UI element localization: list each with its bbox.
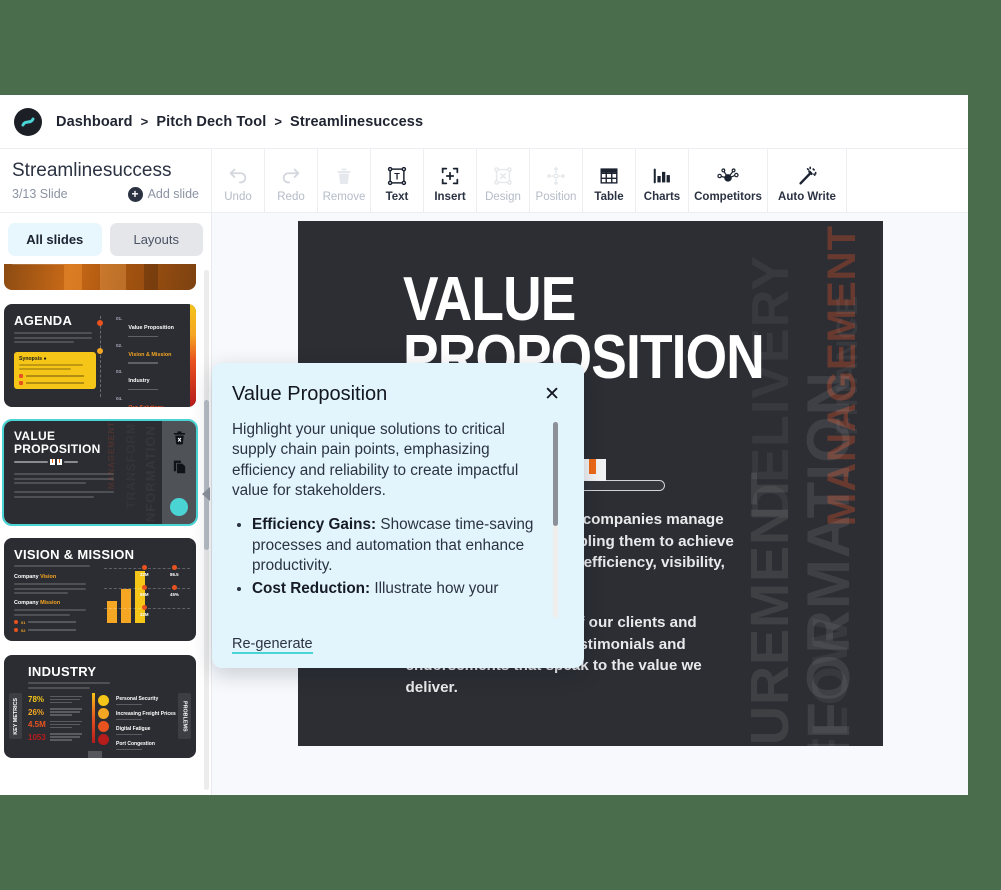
toolbar-row: Streamlinesuccess 3/13 Slide + Add slide… — [0, 149, 968, 213]
industry-metric: 4.5M — [28, 720, 46, 729]
text-box-icon: T — [386, 163, 408, 187]
svg-text:T: T — [394, 171, 400, 181]
tool-label: Redo — [277, 191, 305, 203]
vision-stat: 45% — [170, 592, 179, 597]
tool-text[interactable]: T Text — [371, 149, 424, 212]
insert-frame-icon — [439, 163, 461, 187]
trash-icon — [334, 163, 354, 187]
magic-wand-icon — [795, 163, 819, 187]
sidebar-collapse-button[interactable] — [199, 481, 212, 507]
undo-arrow-icon — [227, 163, 249, 187]
tab-layouts[interactable]: Layouts — [110, 223, 204, 256]
industry-side-label-right: PROBLEMS — [182, 701, 188, 732]
plus-circle-icon: + — [128, 187, 143, 202]
bar-chart-icon — [651, 163, 673, 187]
tool-competitors[interactable]: Competitors — [689, 149, 768, 212]
add-slide-label: Add slide — [148, 187, 199, 201]
slide-thumbnail-list[interactable]: AGENDA Synopsis ● — [0, 264, 211, 795]
tool-label: Position — [536, 191, 577, 203]
popup-header: Value Proposition ✕ — [232, 383, 564, 406]
agenda-item-label: Industry — [128, 378, 149, 384]
agenda-item-label: Value Proposition — [128, 325, 174, 331]
toolbar-spacer — [847, 149, 968, 212]
application-window: Dashboard > Pitch Dech Tool > Streamline… — [0, 95, 968, 795]
decor-word-flow: FLOW — [801, 617, 859, 746]
logo-icon — [14, 108, 42, 136]
document-info-block: Streamlinesuccess 3/13 Slide + Add slide — [0, 149, 212, 212]
bullet-term: Efficiency Gains: — [252, 516, 376, 533]
popup-bullet-1: Efficiency Gains: Showcase time-saving p… — [252, 515, 542, 576]
thumbnail-title: INDUSTRY — [28, 664, 196, 679]
tool-undo[interactable]: Undo — [212, 149, 265, 212]
tool-charts[interactable]: Charts — [636, 149, 689, 212]
slide-status-dot — [170, 498, 188, 516]
tool-label: Design — [485, 191, 521, 203]
tool-label: Text — [386, 191, 409, 203]
thumbnail-actions — [162, 421, 196, 524]
industry-side-label-left: KEY METRICS — [13, 698, 19, 735]
design-frame-icon — [492, 163, 514, 187]
industry-metric: 26% — [28, 708, 46, 717]
bullet-text: Illustrate how your — [370, 580, 498, 597]
page-title: Streamlinesuccess — [12, 161, 199, 182]
vision-stat: 22M — [140, 572, 149, 577]
popup-intro: Highlight your unique solutions to criti… — [232, 420, 542, 501]
value-proposition-popup[interactable]: Value Proposition ✕ Highlight your uniqu… — [212, 363, 584, 668]
slide-thumbnail-3[interactable]: INFORMATION TRANSFORM MANAGEMENT VALUEPR… — [4, 421, 196, 524]
decor-word-information: INFORMATION — [794, 371, 863, 746]
slides-sidebar: All slides Layouts — [0, 213, 212, 795]
tool-label: Table — [594, 191, 623, 203]
redo-arrow-icon — [280, 163, 302, 187]
vision-stat: 32M — [140, 612, 149, 617]
popup-scrollbar-thumb[interactable] — [553, 422, 558, 526]
industry-problem: Increasing Freight Prices — [116, 711, 176, 717]
slide-thumbnail-5[interactable]: KEY METRICS PROBLEMS INDUSTRY 78% 26% 4.… — [4, 655, 196, 758]
delete-slide-button[interactable] — [171, 429, 188, 448]
industry-problem: Personal Security — [116, 696, 176, 702]
app-logo[interactable] — [0, 108, 56, 136]
popup-bullet-list: Efficiency Gains: Showcase time-saving p… — [252, 515, 542, 599]
tool-label: Undo — [224, 191, 252, 203]
slide-thumbnail-4[interactable]: VISION & MISSION Company Vision Company … — [4, 538, 196, 641]
industry-metric: 78% — [28, 695, 46, 704]
popup-bullet-2: Cost Reduction: Illustrate how your — [252, 579, 542, 599]
sidebar-scrollbar[interactable] — [204, 270, 209, 790]
tab-all-slides[interactable]: All slides — [8, 223, 102, 256]
breadcrumb: Dashboard > Pitch Dech Tool > Streamline… — [56, 114, 423, 130]
tool-label: Charts — [644, 191, 680, 203]
top-bar: Dashboard > Pitch Dech Tool > Streamline… — [0, 95, 968, 149]
slide-counter: 3/13 Slide — [12, 187, 68, 201]
vision-stat: 55M — [140, 592, 149, 597]
tool-position[interactable]: Position — [530, 149, 583, 212]
tool-remove[interactable]: Remove — [318, 149, 371, 212]
popup-scrollbar[interactable] — [553, 422, 558, 618]
position-arrows-icon — [545, 163, 567, 187]
sidebar-tabs: All slides Layouts — [0, 213, 211, 264]
slide-thumbnail-2[interactable]: AGENDA Synopsis ● — [4, 304, 196, 407]
popup-body: Highlight your unique solutions to criti… — [232, 420, 564, 600]
decor-word-procurement: PROCUREMENT — [739, 471, 801, 746]
agenda-item-label: Vision & Mission — [128, 352, 171, 358]
breadcrumb-item-pitch-dech-tool[interactable]: Pitch Dech Tool — [156, 114, 266, 130]
tool-label: Competitors — [694, 191, 762, 203]
chevron-left-icon — [202, 487, 210, 501]
agenda-item-label: Our Solutions — [128, 405, 164, 407]
tools-group: Undo Redo Remove — [212, 149, 968, 212]
vision-stat: 86.5 — [170, 572, 179, 577]
tool-label: Auto Write — [778, 191, 836, 203]
tool-auto-write[interactable]: Auto Write — [768, 149, 847, 212]
network-nodes-icon — [715, 163, 741, 187]
add-slide-button[interactable]: + Add slide — [128, 187, 199, 202]
duplicate-slide-button[interactable] — [171, 458, 188, 477]
breadcrumb-item-dashboard[interactable]: Dashboard — [56, 114, 133, 130]
tool-table[interactable]: Table — [583, 149, 636, 212]
popup-title: Value Proposition — [232, 383, 387, 406]
popup-scroll-region[interactable]: Highlight your unique solutions to criti… — [232, 420, 564, 628]
breadcrumb-separator: > — [141, 114, 149, 129]
close-icon[interactable]: ✕ — [540, 383, 564, 406]
industry-problem: Digital Fatigue — [116, 726, 176, 732]
sidebar-scrollbar-thumb[interactable] — [204, 400, 209, 550]
breadcrumb-item-streamlinesuccess[interactable]: Streamlinesuccess — [290, 114, 423, 130]
industry-problem: Port Congestion — [116, 741, 176, 747]
industry-metric: 1053 — [28, 733, 46, 742]
tool-redo[interactable]: Redo — [265, 149, 318, 212]
thumbnail-title: VISION & MISSION — [14, 547, 186, 562]
tool-label: Insert — [434, 191, 465, 203]
bullet-term: Cost Reduction: — [252, 580, 370, 597]
breadcrumb-separator: > — [274, 114, 282, 129]
decor-word-finance: FINANCE — [831, 295, 865, 435]
slide-thumbnail-1[interactable] — [4, 264, 196, 290]
re-generate-link[interactable]: Re-generate — [232, 636, 313, 654]
tool-insert[interactable]: Insert — [424, 149, 477, 212]
slide-heading-line1: VALUE — [403, 271, 764, 329]
table-grid-icon — [598, 163, 620, 187]
tool-design[interactable]: Design — [477, 149, 530, 212]
decor-word-management: MANAGEMENT — [820, 225, 865, 526]
tool-label: Remove — [323, 191, 366, 203]
